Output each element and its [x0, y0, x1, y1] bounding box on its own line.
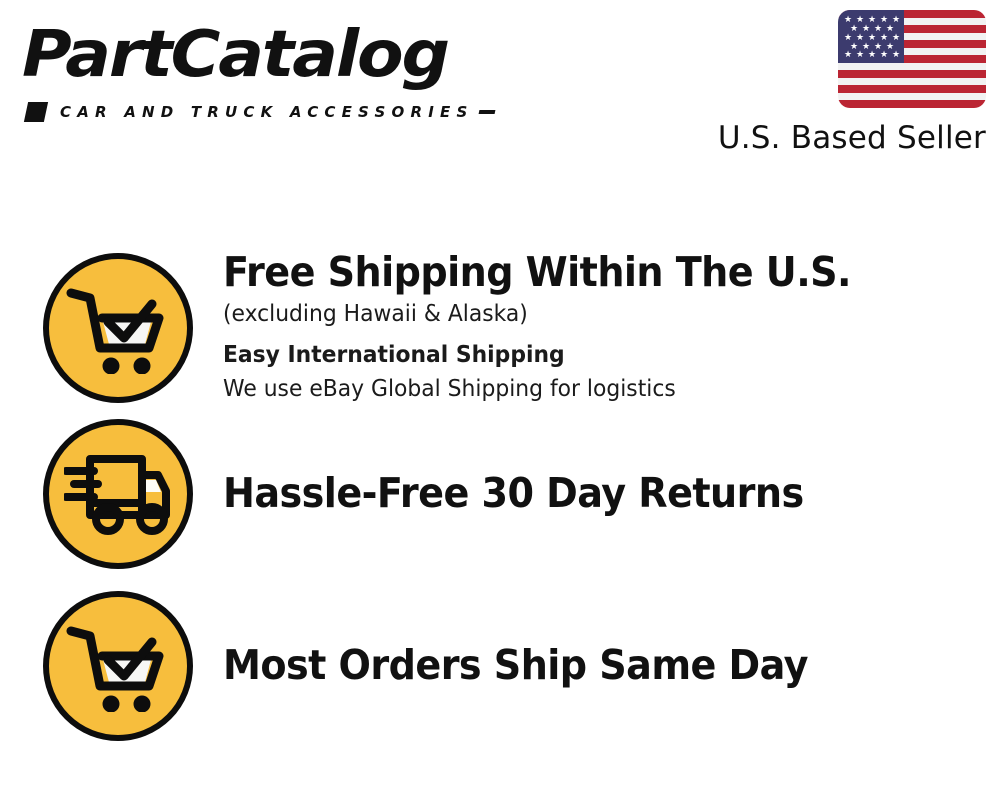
slash-dash-icon — [479, 110, 496, 114]
delivery-truck-icon — [43, 419, 193, 569]
feature-title: Free Shipping Within The U.S. — [223, 247, 946, 297]
shopping-cart-check-icon — [43, 591, 193, 741]
feature-title: Most Orders Ship Same Day — [223, 640, 946, 690]
feature-subtitle-logistics: We use eBay Global Shipping for logistic… — [223, 373, 961, 406]
feature-title: Hassle-Free 30 Day Returns — [223, 468, 946, 518]
feature-text-block: Most Orders Ship Same Day — [223, 640, 1000, 692]
brand-wordmark: PartCatalog — [22, 18, 448, 92]
brand-tagline: CAR AND TRUCK ACCESSORIES — [60, 103, 473, 121]
us-based-seller-badge: ★ ★ ★ ★ ★ ★ ★ ★ ★ ★ ★ ★ ★ ★ ★ ★ ★ ★ ★ ★ — [716, 10, 986, 157]
us-flag-icon: ★ ★ ★ ★ ★ ★ ★ ★ ★ ★ ★ ★ ★ ★ ★ ★ ★ ★ ★ ★ — [838, 10, 986, 108]
seller-info-banner: PartCatalog CAR AND TRUCK ACCESSORIES — [0, 0, 1000, 800]
banner-header: PartCatalog CAR AND TRUCK ACCESSORIES — [0, 0, 1000, 170]
feature-text-block: Hassle-Free 30 Day Returns — [223, 468, 1000, 520]
slash-block-icon — [24, 102, 48, 122]
feature-row: Most Orders Ship Same Day — [0, 591, 1000, 741]
feature-row: Free Shipping Within The U.S. (excluding… — [0, 247, 1000, 408]
brand-tagline-row: CAR AND TRUCK ACCESSORIES — [26, 102, 495, 122]
feature-subtitle-exclusions: (excluding Hawaii & Alaska) — [223, 298, 961, 331]
shopping-cart-check-icon — [43, 253, 193, 403]
us-based-seller-label: U.S. Based Seller — [716, 119, 986, 157]
feature-row: Hassle-Free 30 Day Returns — [0, 419, 1000, 569]
feature-subtitle-international: Easy International Shipping — [223, 339, 961, 372]
brand-logo: PartCatalog CAR AND TRUCK ACCESSORIES — [22, 18, 492, 118]
feature-text-block: Free Shipping Within The U.S. (excluding… — [223, 247, 1000, 408]
